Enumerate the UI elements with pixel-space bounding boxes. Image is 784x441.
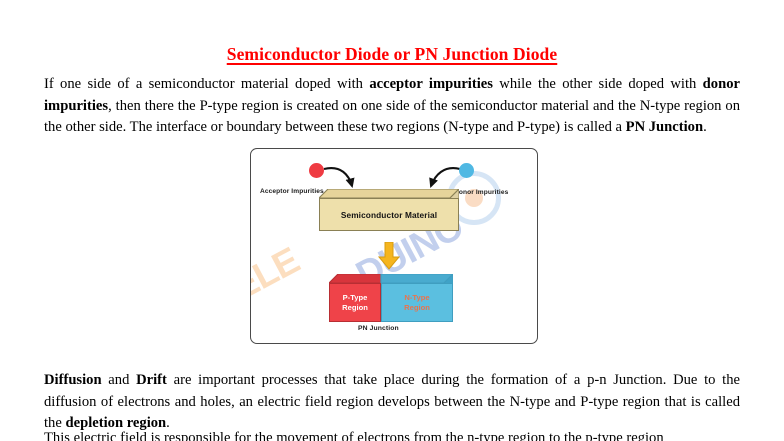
document-page: Semiconductor Diode or PN Junction Diode…	[0, 0, 784, 441]
paragraph-electric-field: This electric field is responsible for t…	[44, 428, 740, 441]
down-arrow-icon	[378, 242, 400, 270]
intro-text-1: If one side of a semiconductor material …	[44, 76, 369, 92]
page-title: Semiconductor Diode or PN Junction Diode	[0, 44, 784, 65]
intro-bold-pn-junction: PN Junction	[626, 119, 703, 135]
paragraph-diffusion: Diffusion and Drift are important proces…	[44, 370, 740, 435]
p-type-label-line1: P-Type	[343, 293, 368, 303]
diffusion-bold-drift: Drift	[136, 372, 167, 388]
semiconductor-block: Semiconductor Material	[319, 189, 459, 231]
pn-junction-figure: ELE DUINO Acceptor Impurities Donor Impu…	[250, 148, 538, 344]
intro-bold-acceptor: acceptor impurities	[369, 76, 493, 92]
n-type-region: N-Type Region	[381, 283, 453, 322]
paragraph-intro: If one side of a semiconductor material …	[44, 74, 740, 139]
p-type-label-line2: Region	[342, 303, 368, 313]
watermark-text-part1: ELE	[251, 240, 306, 309]
acceptor-impurities-label: Acceptor Impurities	[260, 188, 324, 195]
pn-block: P-Type Region N-Type Region	[329, 274, 453, 322]
semiconductor-material-label: Semiconductor Material	[341, 210, 437, 220]
donor-dot-icon	[459, 163, 474, 178]
pn-junction-label: PN Junction	[358, 325, 399, 332]
p-type-region: P-Type Region	[329, 283, 381, 322]
diffusion-bold-diffusion: Diffusion	[44, 372, 102, 388]
n-type-label-line1: N-Type	[404, 293, 429, 303]
diffusion-text-1: and	[102, 372, 137, 388]
semiconductor-face: Semiconductor Material	[319, 198, 459, 231]
intro-text-2: while the other side doped with	[493, 76, 703, 92]
donor-impurities-label: Donor Impurities	[454, 189, 508, 196]
acceptor-dot-icon	[309, 163, 324, 178]
intro-text-4: .	[703, 119, 707, 135]
n-type-label-line2: Region	[404, 303, 430, 313]
